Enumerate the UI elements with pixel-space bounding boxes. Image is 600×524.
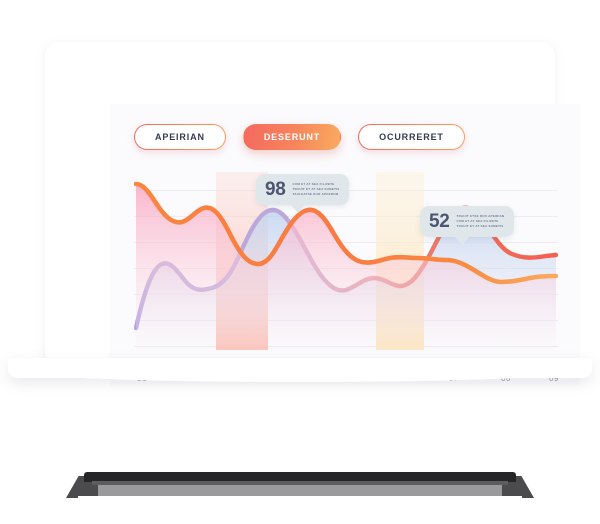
mockup-stage: APEIRIAN DESERUNT OCURRERET bbox=[0, 0, 600, 524]
tooltip-98-line-1: CUM ET AT SEA FILIZETE bbox=[293, 183, 340, 186]
tooltip-52-line-2: CUM ET AT SEA FILIZETE bbox=[457, 220, 505, 223]
tooltip-52-text: TRAUIT ETSE DUO APEIRIAN CUM ET AT SEA F… bbox=[457, 215, 505, 228]
tab-ocurreret[interactable]: OCURRERET bbox=[358, 124, 465, 150]
tab-ocurreret-label: OCURRERET bbox=[379, 132, 444, 142]
laptop-stand bbox=[62, 472, 538, 510]
tab-deserunt[interactable]: DESERUNT bbox=[243, 124, 341, 150]
tab-apeirian-label: APEIRIAN bbox=[155, 132, 205, 142]
tooltip-98-text: CUM ET AT SEA FILIZETE TRAUIT ET AT SEA … bbox=[293, 183, 340, 196]
tooltip-52-line-1: TRAUIT ETSE DUO APEIRIAN bbox=[457, 215, 505, 218]
stand-base-plate bbox=[78, 496, 522, 510]
tooltip-52-value: 52 bbox=[429, 212, 450, 231]
tab-bar: APEIRIAN DESERUNT OCURRERET bbox=[134, 124, 465, 150]
tab-deserunt-label: DESERUNT bbox=[264, 132, 320, 142]
tab-apeirian[interactable]: APEIRIAN bbox=[134, 124, 226, 150]
tooltip-98-line-3: TAULEATSE DUO APCERUM bbox=[293, 193, 340, 196]
tooltip-98[interactable]: 98 CUM ET AT SEA FILIZETE TRAUIT ET AT S… bbox=[256, 174, 349, 205]
laptop-lid: APEIRIAN DESERUNT OCURRERET bbox=[45, 42, 555, 360]
tooltip-98-value: 98 bbox=[265, 180, 286, 199]
laptop-screen: APEIRIAN DESERUNT OCURRERET bbox=[110, 104, 580, 386]
tooltip-52[interactable]: 52 TRAUIT ETSE DUO APEIRIAN CUM ET AT SE… bbox=[420, 206, 514, 237]
tooltip-52-line-3: TRAUIT ET AT SEA SUMETIS bbox=[457, 225, 505, 228]
tooltip-98-line-2: TRAUIT ET AT SEA SUMETIS bbox=[293, 188, 340, 191]
